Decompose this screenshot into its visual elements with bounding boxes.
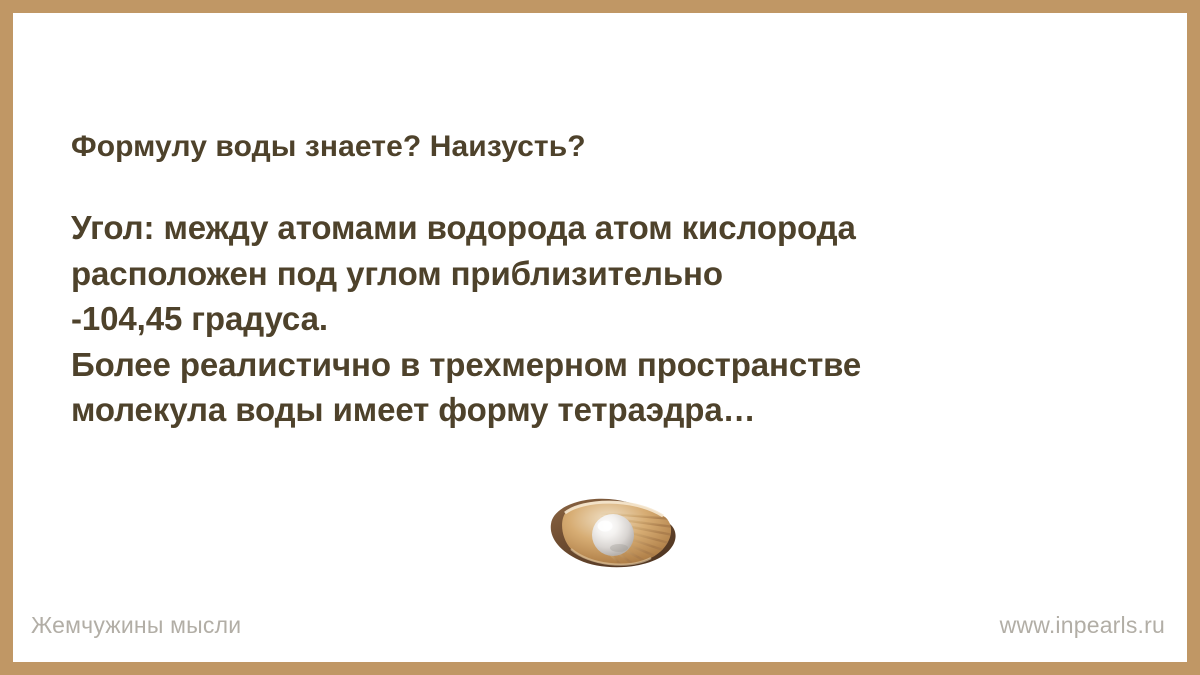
quote-line-2: расположен под углом приблизительно xyxy=(71,251,1161,297)
shell-pearl-logo xyxy=(541,491,685,575)
quote-line-1: Угол: между атомами водорода атом кислор… xyxy=(71,205,1161,251)
quote-line-4: Более реалистично в трехмерном пространс… xyxy=(71,342,1161,388)
quote-spacer xyxy=(71,169,1161,205)
footer-brand: Жемчужины мысли xyxy=(31,612,241,639)
oyster-shell-icon xyxy=(541,491,685,575)
quote-line-3: -104,45 градуса. xyxy=(71,296,1161,342)
quote-headline: Формулу воды знаете? Наизусть? xyxy=(71,125,1161,169)
footer: Жемчужины мысли www.inpearls.ru xyxy=(13,610,1187,640)
pearl-highlight xyxy=(598,521,613,532)
quote-text-block: Формулу воды знаете? Наизусть? Угол: меж… xyxy=(71,125,1161,433)
quote-card: Формулу воды знаете? Наизусть? Угол: меж… xyxy=(0,0,1200,675)
quote-line-5: молекула воды имеет форму тетраэдра… xyxy=(71,387,1161,433)
footer-site-url: www.inpearls.ru xyxy=(1000,612,1165,639)
pearl-shadow xyxy=(610,544,628,552)
